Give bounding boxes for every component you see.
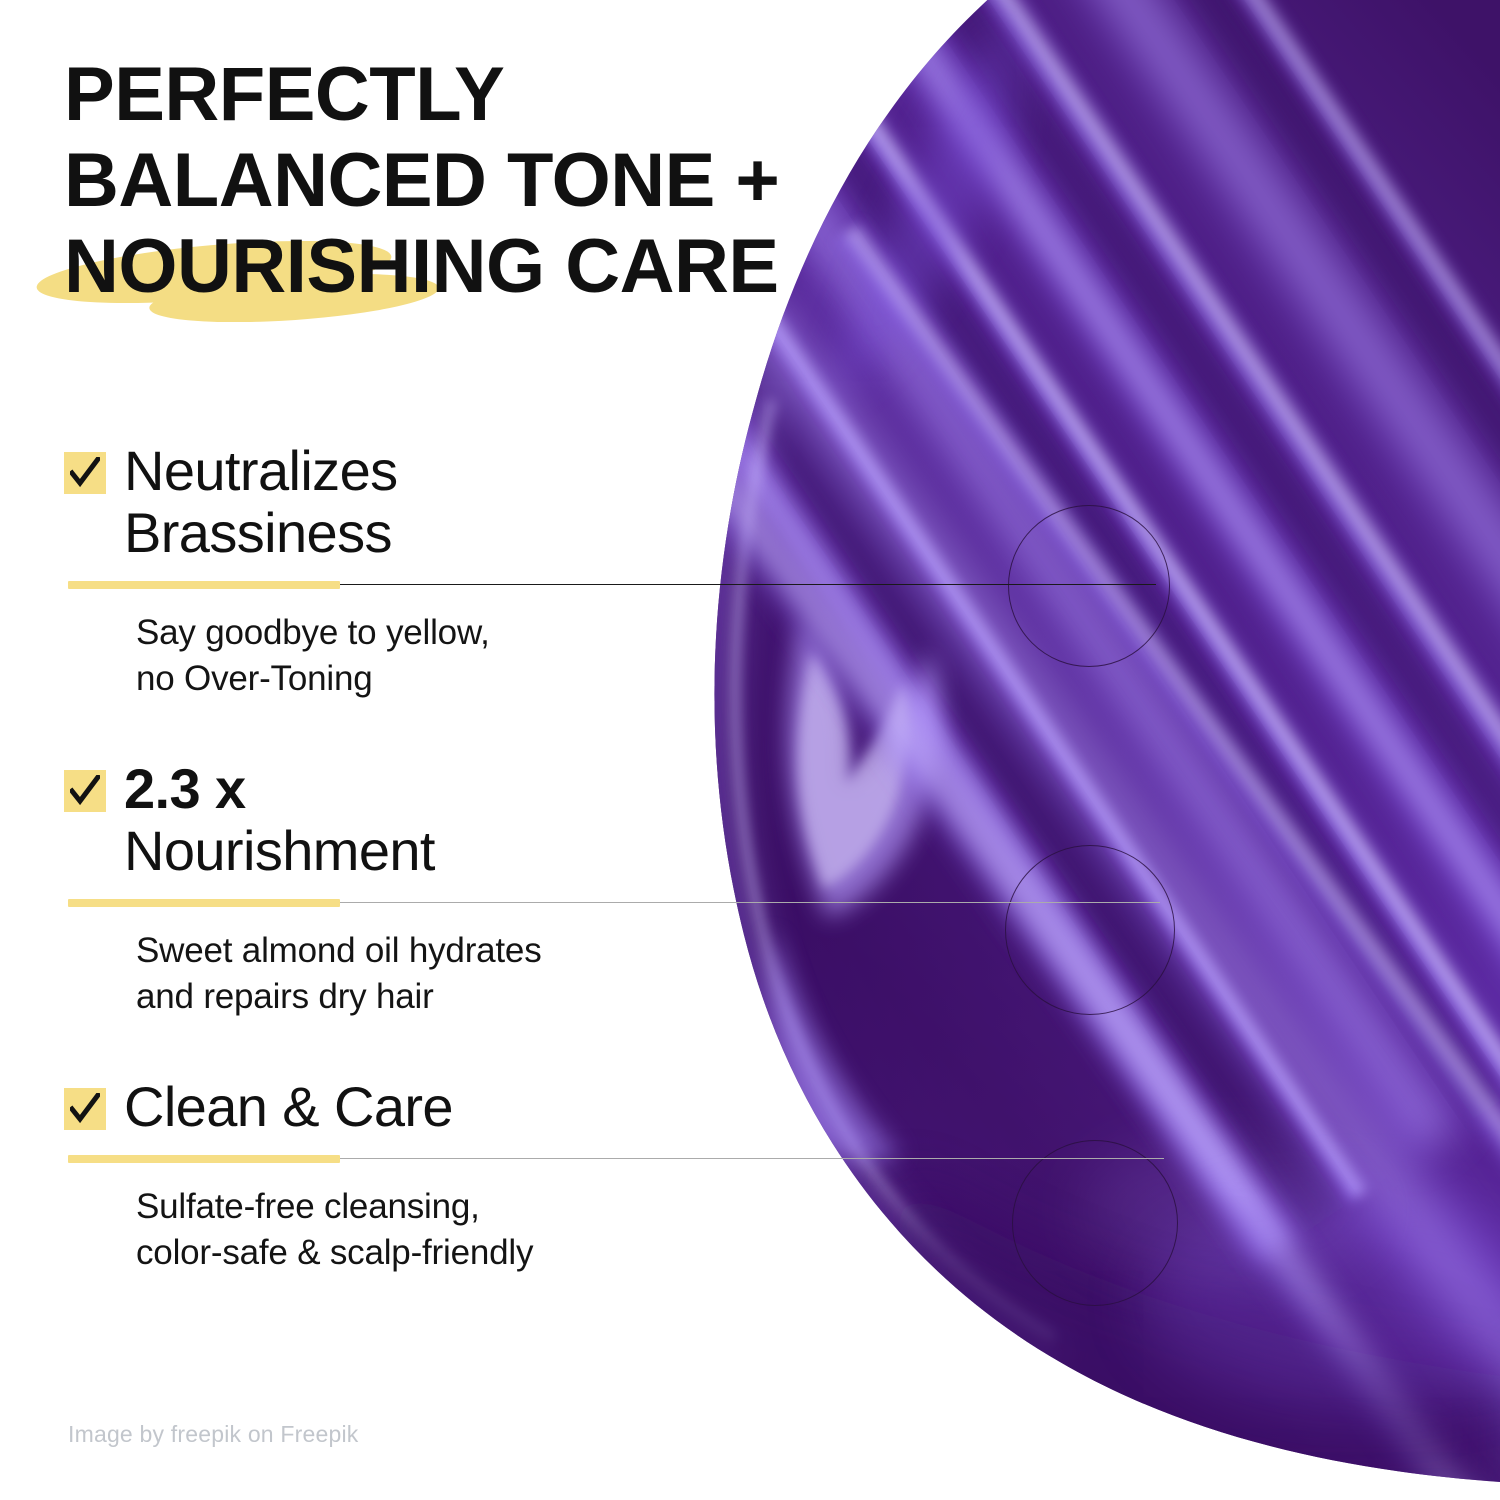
headline-line-3: NOURISHING CARE: [64, 224, 984, 310]
feature-description: Sweet almond oil hydrates and repairs dr…: [136, 928, 804, 1020]
hotspot-circle-1: [1008, 505, 1170, 667]
feature-desc-line-2: color-safe & scalp-friendly: [136, 1230, 804, 1276]
feature-description: Sulfate-free cleansing, color-safe & sca…: [136, 1184, 804, 1276]
headline-text-1: PERFECTLY: [64, 52, 504, 137]
feature-item-nourishment: 2.3 x Nourishment Sweet almond oil hydra…: [64, 758, 804, 1020]
feature-desc-line-2: no Over-Toning: [136, 656, 804, 702]
feature-rule: [68, 578, 804, 592]
feature-rule: [68, 896, 804, 910]
image-credit: Image by freepik on Freepik: [68, 1420, 359, 1448]
rule-yellow-segment: [68, 899, 340, 907]
feature-title-line-2: Nourishment: [124, 820, 435, 882]
headline-line-1: PERFECTLY: [64, 52, 984, 138]
feature-title-line-1: Neutralizes: [124, 440, 398, 502]
hotspot-circle-2: [1005, 845, 1175, 1015]
feature-header: Clean & Care: [64, 1076, 804, 1138]
feature-desc-line-1: Sweet almond oil hydrates: [136, 928, 804, 974]
checkmark-icon: [64, 770, 106, 812]
feature-list: Neutralizes Brassiness Say goodbye to ye…: [64, 440, 804, 1276]
connector-line: [340, 1158, 1164, 1159]
feature-title: 2.3 x Nourishment: [124, 758, 435, 882]
hotspot-circle-3: [1012, 1140, 1178, 1306]
rule-yellow-segment: [68, 1155, 340, 1163]
headline-text-3: NOURISHING CARE: [64, 224, 779, 309]
feature-rule: [68, 1152, 804, 1166]
feature-title-line-1: Clean & Care: [124, 1076, 453, 1138]
feature-desc-line-1: Sulfate-free cleansing,: [136, 1184, 804, 1230]
feature-desc-line-2: and repairs dry hair: [136, 974, 804, 1020]
rule-yellow-segment: [68, 581, 340, 589]
feature-header: Neutralizes Brassiness: [64, 440, 804, 564]
headline-line-2: BALANCED TONE +: [64, 138, 984, 224]
feature-title: Neutralizes Brassiness: [124, 440, 398, 564]
feature-title: Clean & Care: [124, 1076, 453, 1138]
feature-item-neutralizes-brassiness: Neutralizes Brassiness Say goodbye to ye…: [64, 440, 804, 702]
feature-item-clean-and-care: Clean & Care Sulfate-free cleansing, col…: [64, 1076, 804, 1276]
feature-description: Say goodbye to yellow, no Over-Toning: [136, 610, 804, 702]
headline-text-2: BALANCED TONE +: [64, 138, 779, 223]
connector-line: [340, 902, 1160, 903]
feature-title-line-2: Brassiness: [124, 502, 398, 564]
infographic-canvas: PERFECTLY BALANCED TONE + NOURISHING CAR…: [0, 0, 1500, 1500]
feature-title-lead: 2.3 x: [124, 758, 435, 820]
checkmark-icon: [64, 1088, 106, 1130]
connector-line: [340, 584, 1156, 585]
headline-block: PERFECTLY BALANCED TONE + NOURISHING CAR…: [64, 52, 984, 310]
feature-header: 2.3 x Nourishment: [64, 758, 804, 882]
feature-desc-line-1: Say goodbye to yellow,: [136, 610, 804, 656]
checkmark-icon: [64, 452, 106, 494]
